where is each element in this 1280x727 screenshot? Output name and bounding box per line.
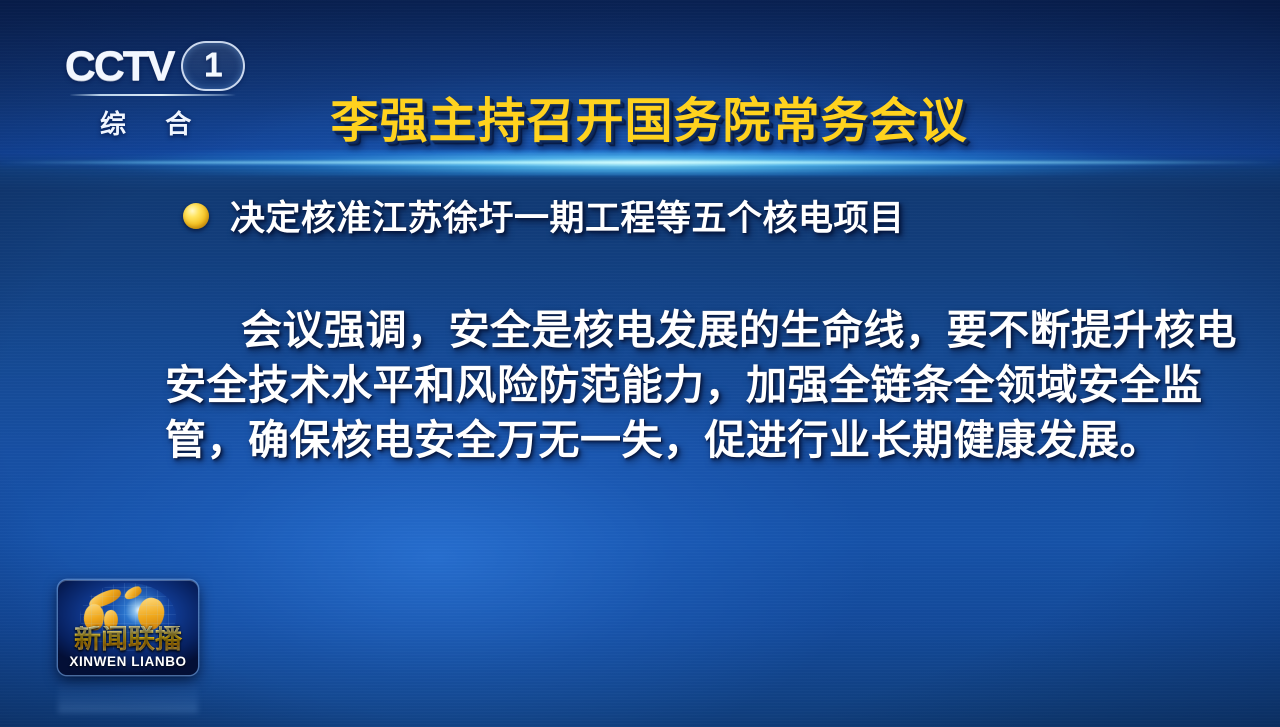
program-name-cn: 新闻联播 xyxy=(58,626,198,653)
page-title: 李强主持召开国务院常务会议 xyxy=(0,94,1280,151)
body-paragraph: 会议强调，安全是核电发展的生命线，要不断提升核电 安全技术水平和风险防范能力，加… xyxy=(165,303,1117,468)
channel-number-capsule: 1 xyxy=(181,41,245,91)
body-line: 管，确保核电安全万无一失，促进行业长期健康发展。 xyxy=(165,413,1117,468)
channel-number: 1 xyxy=(204,48,223,84)
subheadline-label: 决定核准江苏徐圩一期工程等五个核电项目 xyxy=(230,190,905,241)
gold-bullet-dot-icon xyxy=(183,203,209,229)
logo-reflection xyxy=(58,679,198,713)
subheadline: 决定核准江苏徐圩一期工程等五个核电项目 xyxy=(183,190,905,241)
cctv-wordmark: CCTV xyxy=(65,45,173,87)
broadcast-screen: CCTV 1 综 合 李强主持召开国务院常务会议 决定核准江苏徐圩一期工程等五个… xyxy=(0,0,1280,727)
program-name-en: XINWEN LIANBO xyxy=(58,654,198,669)
cctv-logo-row: CCTV 1 xyxy=(66,42,266,90)
body-line: 会议强调，安全是核电发展的生命线，要不断提升核电 xyxy=(165,303,1117,358)
body-line: 安全技术水平和风险防范能力，加强全链条全领域安全监 xyxy=(165,358,1117,413)
xinwen-lianbo-logo: 新闻联播 XINWEN LIANBO xyxy=(58,580,198,675)
